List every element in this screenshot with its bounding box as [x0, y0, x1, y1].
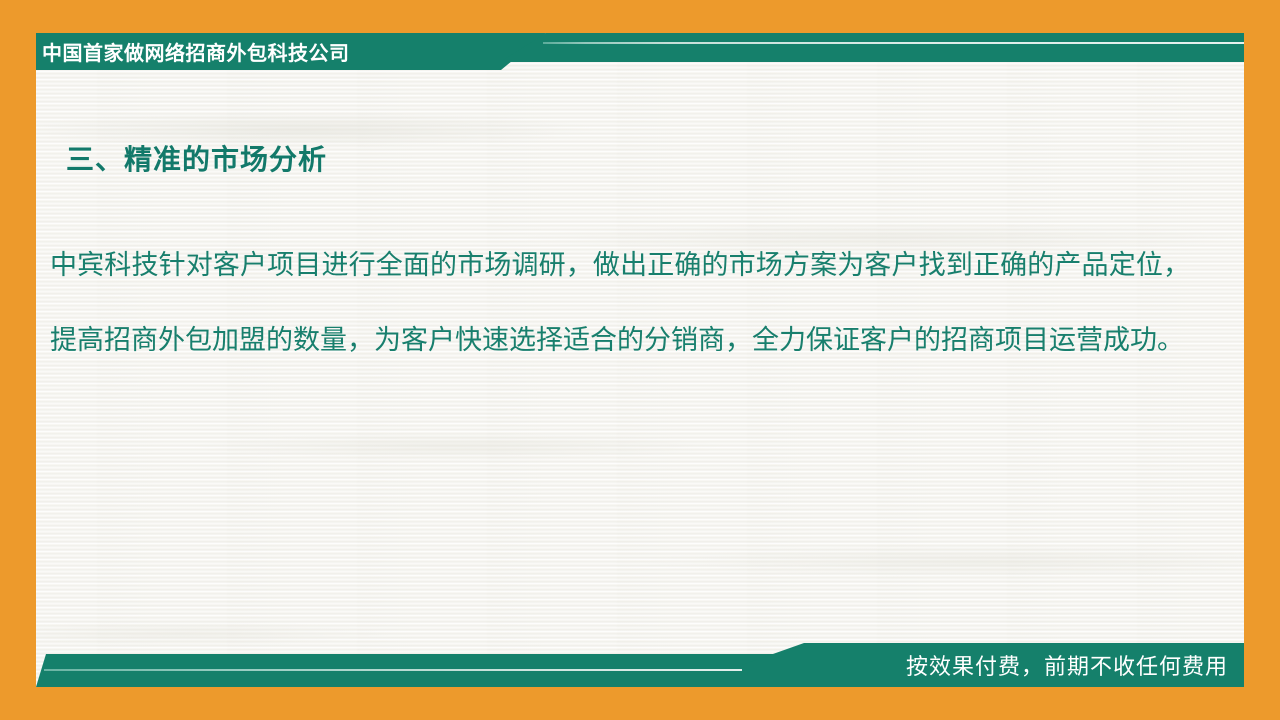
orange-left-rail — [0, 0, 36, 720]
slide-root: 中国首家做网络招商外包科技公司 三、精准的市场分析 中宾科技针对客户项目进行全面… — [0, 0, 1280, 720]
header-green-strip — [470, 33, 1244, 62]
body-paragraph-container: 中宾科技针对客户项目进行全面的市场调研，做出正确的市场方案为客户找到正确的产品定… — [50, 228, 1190, 378]
footer-tagline: 按效果付费，前期不收任何费用 — [742, 643, 1228, 687]
orange-bottom-rail — [0, 687, 1280, 720]
footer-hairline-divider — [44, 669, 744, 671]
section-title: 三、精准的市场分析 — [66, 138, 327, 178]
header-hairline-divider — [543, 42, 1244, 44]
body-paragraph: 中宾科技针对客户项目进行全面的市场调研，做出正确的市场方案为客户找到正确的产品定… — [50, 228, 1190, 378]
orange-right-rail — [1244, 0, 1280, 720]
orange-top-band — [0, 0, 1280, 33]
header-banner-text: 中国首家做网络招商外包科技公司 — [42, 33, 350, 70]
